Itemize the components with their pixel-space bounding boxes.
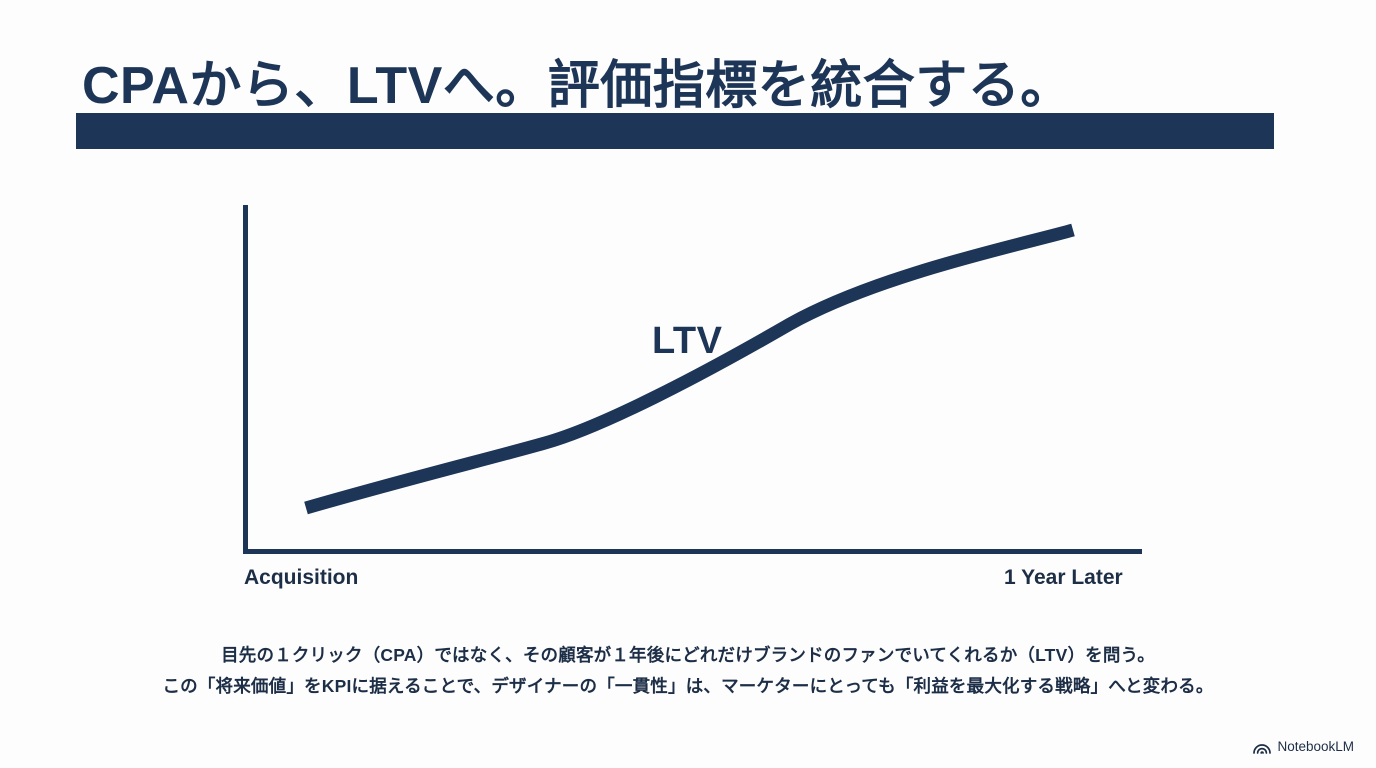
notebooklm-watermark: NotebookLM xyxy=(1253,739,1354,754)
page-title-text-inverted: CPAから、LTVへ。評価指標を統合する。 xyxy=(82,113,1073,117)
notebooklm-spiral-icon xyxy=(1253,740,1271,754)
page-title: CPAから、LTVへ。評価指標を統合する。 CPAから、LTVへ。評価指標を統合… xyxy=(76,55,1276,150)
caption-line-1: 目先の１クリック（CPA）ではなく、その顧客が１年後にどれだけブランドのファンで… xyxy=(0,640,1376,671)
chart-series-label-ltv: LTV xyxy=(652,320,722,363)
caption-block: 目先の１クリック（CPA）ではなく、その顧客が１年後にどれだけブランドのファンで… xyxy=(0,640,1376,702)
page-title-text: CPAから、LTVへ。評価指標を統合する。 xyxy=(82,55,1073,117)
slide-canvas: CPAから、LTVへ。評価指標を統合する。 CPAから、LTVへ。評価指標を統合… xyxy=(0,0,1376,768)
caption-line-2: この「将来価値」をKPIに据えることで、デザイナーの「一貫性」は、マーケターにと… xyxy=(0,671,1376,702)
x-axis-tick-label-end: 1 Year Later xyxy=(1004,566,1123,590)
x-axis-tick-label-start: Acquisition xyxy=(244,566,358,590)
title-highlight-clip: CPAから、LTVへ。評価指標を統合する。 xyxy=(76,113,1274,149)
ltv-curve xyxy=(306,230,1073,508)
ltv-growth-chart xyxy=(230,190,1170,570)
notebooklm-label: NotebookLM xyxy=(1277,739,1354,754)
